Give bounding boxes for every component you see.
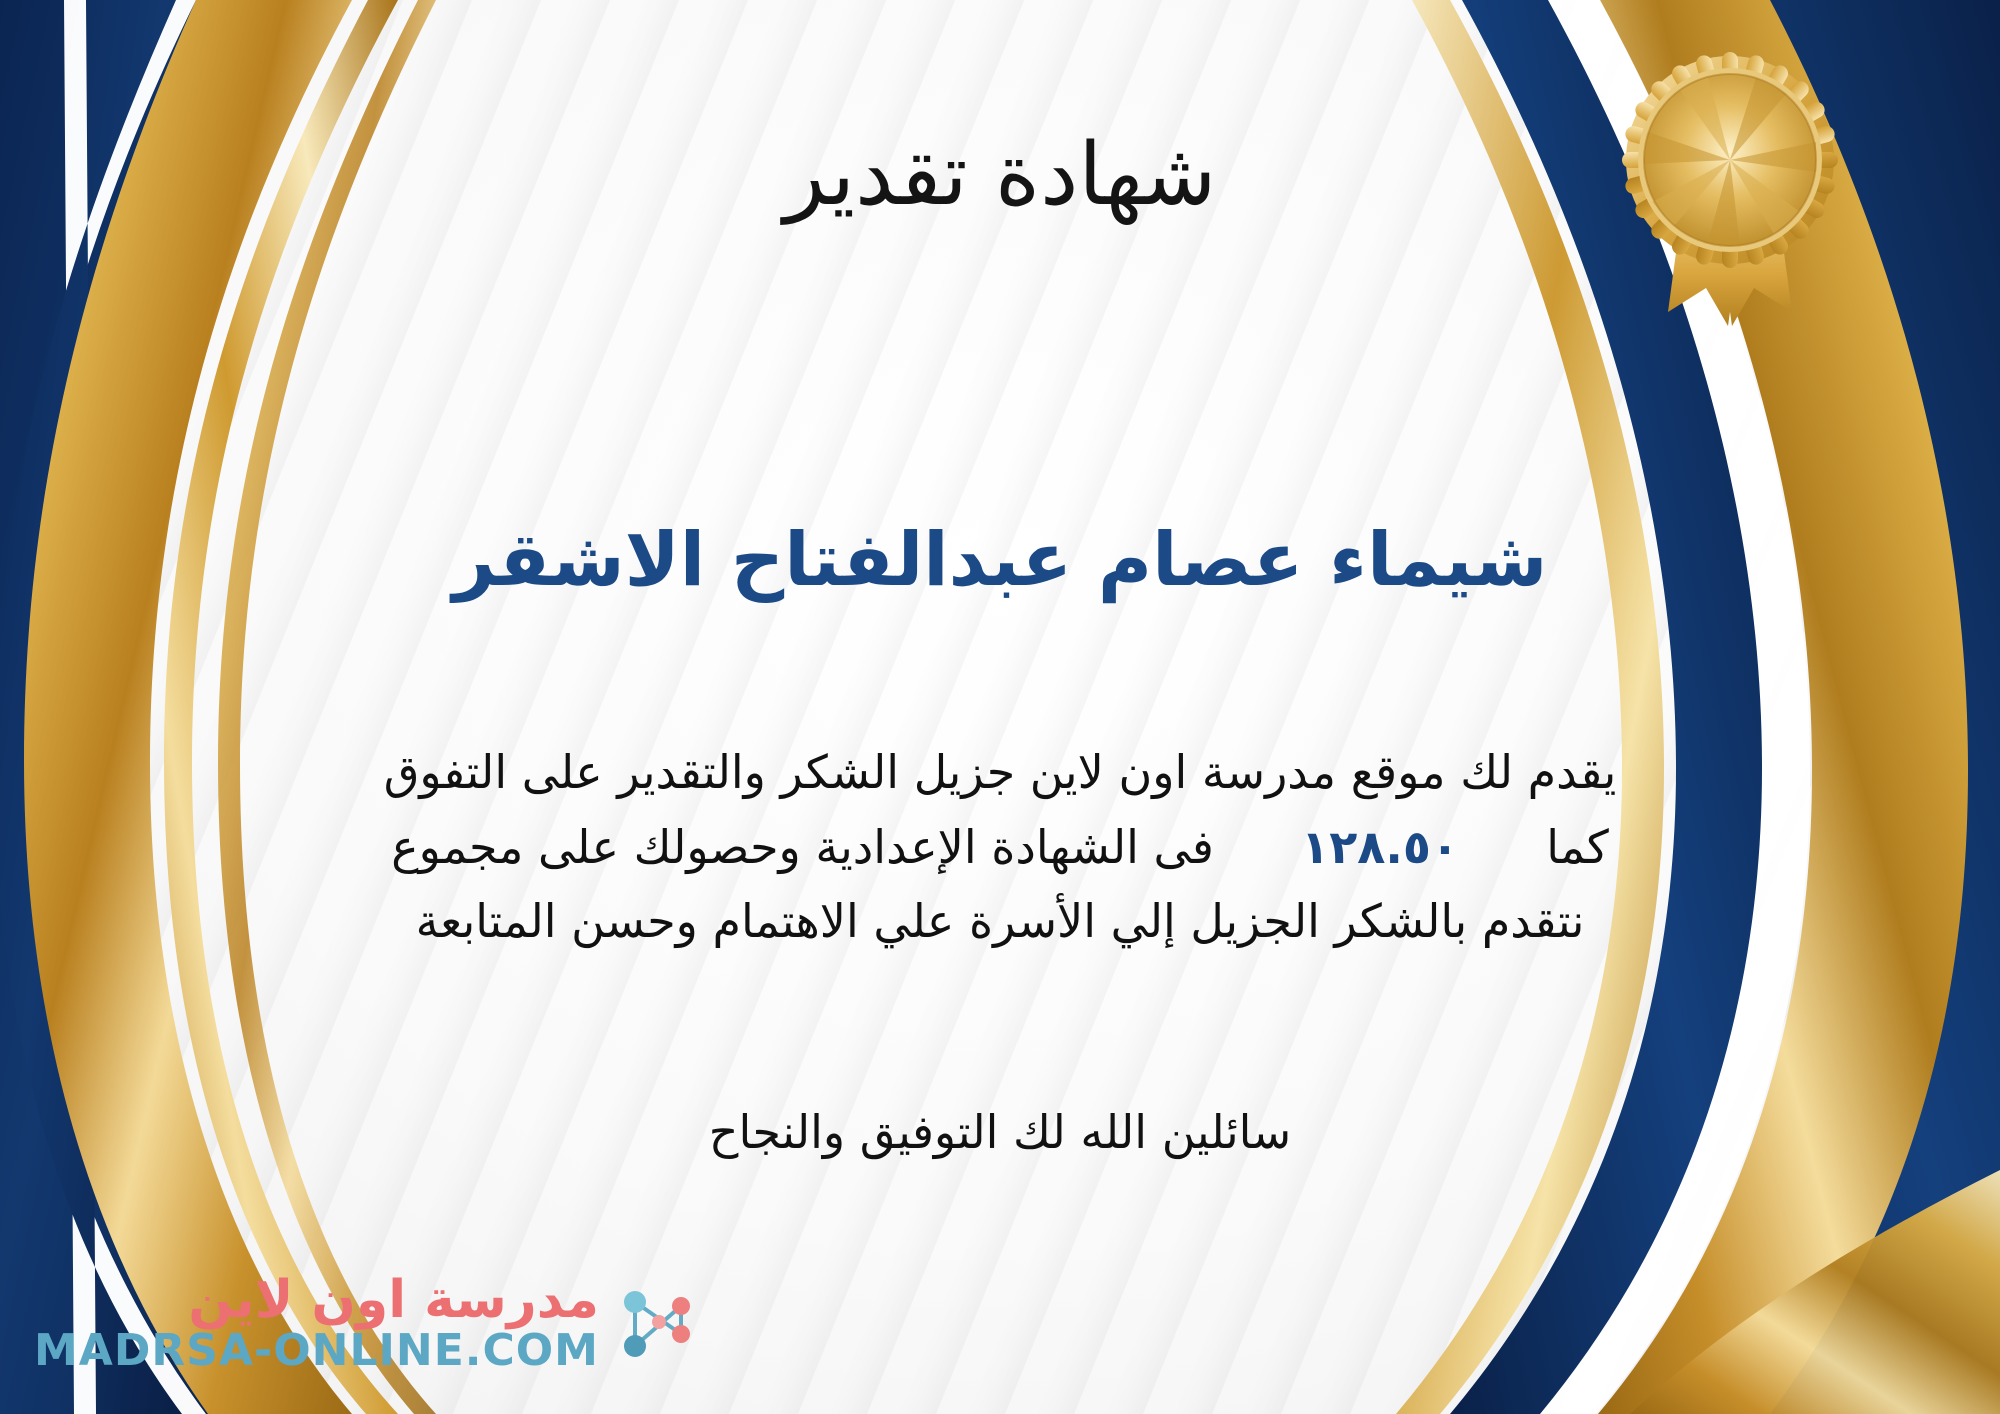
recipient-name: شيماء عصام عبدالفتاح الاشقر [0,518,2000,603]
logo-text: مدرسة اون لاين MADRSA-ONLINE.COM [34,1273,599,1374]
body-line-2: كما ١٢٨.٥٠ فى الشهادة الإعدادية وحصولك ع… [60,810,1940,885]
body-line-3: نتقدم بالشكر الجزيل إلي الأسرة علي الاهت… [60,884,1940,959]
grade-value: ١٢٨.٥٠ [1283,820,1477,874]
closing-line: سائلين الله لك التوفيق والنجاح [0,1105,2000,1159]
logo-arabic-name: مدرسة اون لاين [34,1273,599,1328]
body-line-1: يقدم لك موقع مدرسة اون لاين جزيل الشكر و… [60,735,1940,810]
site-logo[interactable]: مدرسة اون لاين MADRSA-ONLINE.COM [34,1273,709,1374]
network-nodes-icon [613,1276,709,1372]
body-line-2-before: فى الشهادة الإعدادية وحصولك على مجموع [391,820,1214,874]
page-title: شهادة تقدير [0,128,2000,223]
logo-domain: MADRSA-ONLINE.COM [34,1328,599,1374]
certificate-canvas: شهادة تقدير شيماء عصام عبدالفتاح الاشقر … [0,0,2000,1414]
body-line-2-after: كما [1546,820,1609,874]
body-text: يقدم لك موقع مدرسة اون لاين جزيل الشكر و… [60,735,1940,959]
